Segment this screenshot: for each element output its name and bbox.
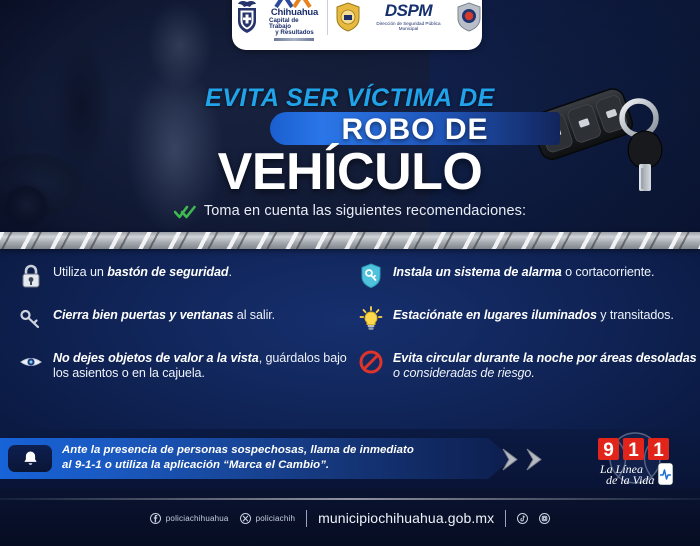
brand-divider [327, 0, 328, 35]
tip-item: Instala un sistema de alarma o cortacorr… [358, 263, 700, 289]
footer-divider-line [0, 498, 700, 500]
tips-column-right: Instala un sistema de alarma o cortacorr… [358, 263, 700, 398]
key-icon [18, 306, 44, 332]
tip-tail: . [228, 265, 231, 279]
eye-icon [18, 349, 44, 375]
hero-subtitle-row: Toma en cuenta las siguientes recomendac… [0, 203, 700, 219]
facebook-handle: policiachihuahua [166, 514, 229, 523]
emergency-911-logo: 9 1 1 La Línea de la Vida [576, 431, 694, 488]
brand-underline [274, 38, 314, 41]
tip-strong: Evita circular durante la noche por área… [393, 351, 697, 365]
chihuahua-wordmark: Chihuahua Capital de Trabajo y Resultado… [269, 0, 320, 41]
tips-column-left: Utiliza un bastón de seguridad. Cierra b… [18, 263, 363, 398]
cta-text: Ante la presencia de personas sospechosa… [62, 443, 482, 474]
tip-text: Instala un sistema de alarma o cortacorr… [393, 263, 654, 280]
cta-section: Ante la presencia de personas sospechosa… [0, 429, 700, 488]
tips-section: Utiliza un bastón de seguridad. Cierra b… [0, 249, 700, 429]
police-shield-icon [456, 2, 482, 32]
tip-text: Utiliza un bastón de seguridad. [53, 263, 232, 280]
tip-text: Cierra bien puertas y ventanas al salir. [53, 306, 275, 323]
x-handle: policiachih [256, 514, 296, 523]
tip-text: No dejes objetos de valor a la vista, gu… [53, 349, 363, 381]
hero-headline-main: VEHÍCULO [0, 146, 700, 198]
tip-tail: o consideradas de riesgo. [393, 366, 535, 380]
tiktok-icon[interactable] [517, 513, 528, 524]
facebook-icon[interactable] [150, 513, 161, 524]
bell-icon-container [8, 445, 52, 472]
prohibition-icon [358, 349, 384, 375]
tip-text: Estaciónate en lugares iluminados y tran… [393, 306, 674, 323]
shield-key-icon [358, 263, 384, 289]
cta-text-line-2: al 9-1-1 o utiliza la aplicación “Marca … [62, 458, 482, 473]
tip-item: Estaciónate en lugares iluminados y tran… [358, 306, 700, 332]
tip-strong: Estaciónate en lugares iluminados [393, 308, 597, 322]
tip-strong: No dejes objetos de valor a la vista [53, 351, 259, 365]
tip-tail: al salir. [233, 308, 275, 322]
tip-tail: y transitados. [597, 308, 674, 322]
smartphone-pulse-icon [658, 463, 673, 485]
svg-text:1: 1 [653, 440, 664, 461]
hero-eyebrow: EVITA SER VÍCTIMA DE [0, 84, 700, 113]
dspm-acronym: DSPM [385, 2, 432, 19]
cta-text-line-1: Ante la presencia de personas sospechosa… [62, 443, 482, 458]
poster-root: EVITA SER VÍCTIMA DE ROBO DE VEHÍCULO To… [0, 0, 700, 546]
emergency-digits: 9 1 1 [598, 438, 669, 461]
tip-tail: o cortacorriente. [562, 265, 655, 279]
padlock-icon [18, 263, 44, 289]
footer-divider-left [306, 510, 307, 527]
brand-tagline-2: y Resultados [275, 30, 314, 36]
lightbulb-icon [358, 306, 384, 332]
tip-strong: bastón de seguridad [107, 265, 228, 279]
social-tiktok[interactable] [517, 513, 528, 524]
svg-text:de la Vida: de la Vida [606, 473, 654, 487]
hero-subtitle: Toma en cuenta las siguientes recomendac… [204, 203, 526, 219]
tip-lead: Utiliza un [53, 265, 107, 279]
tip-strong: Cierra bien puertas y ventanas [53, 308, 233, 322]
footer-url[interactable]: municipiochihuahua.gob.mx [318, 510, 494, 526]
footer-section: policiachihuahua policiachih municipioch… [0, 488, 700, 546]
svg-text:9: 9 [603, 440, 614, 461]
police-badge-icon [335, 2, 361, 32]
chihuahua-coat-of-arms-icon [232, 0, 262, 35]
double-check-icon [174, 204, 196, 219]
social-facebook[interactable]: policiachihuahua [150, 513, 229, 524]
dspm-wordmark: DSPM Dirección de Seguridad Pública Muni… [368, 2, 449, 32]
tip-item: No dejes objetos de valor a la vista, gu… [18, 349, 363, 381]
social-instagram[interactable] [539, 513, 550, 524]
hero-section: EVITA SER VÍCTIMA DE ROBO DE VEHÍCULO To… [0, 0, 700, 232]
tip-item: Utiliza un bastón de seguridad. [18, 263, 363, 289]
dspm-subtitle: Dirección de Seguridad Pública Municipal [368, 21, 449, 32]
x-twitter-icon[interactable] [240, 513, 251, 524]
hero-headline-bar: ROBO DE [270, 113, 560, 146]
footer-divider-right [505, 510, 506, 527]
tip-text: Evita circular durante la noche por área… [393, 349, 700, 381]
tip-strong: Instala un sistema de alarma [393, 265, 562, 279]
svg-text:1: 1 [628, 440, 639, 461]
double-chevron-right-icon [500, 447, 546, 472]
brand-city-name: Chihuahua [271, 8, 318, 18]
metal-divider-strip [0, 232, 700, 249]
instagram-icon[interactable] [539, 513, 550, 524]
brand-header-panel: Chihuahua Capital de Trabajo y Resultado… [232, 0, 482, 50]
footer-row: policiachihuahua policiachih municipioch… [0, 506, 700, 530]
tip-item: Evita circular durante la noche por área… [358, 349, 700, 381]
tip-item: Cierra bien puertas y ventanas al salir. [18, 306, 363, 332]
bell-icon [22, 450, 39, 468]
social-x[interactable]: policiachih [240, 513, 296, 524]
